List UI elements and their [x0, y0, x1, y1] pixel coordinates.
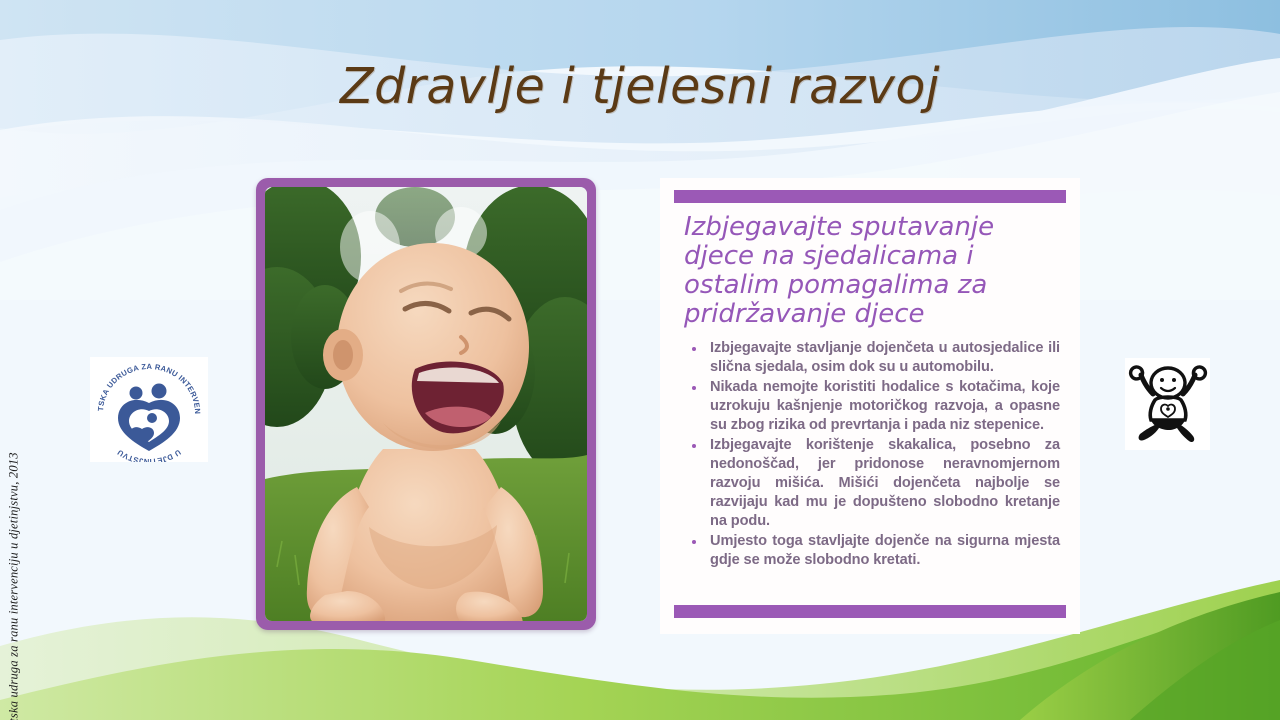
- source-credit-text: IZVOR: Temelji ranog djetinjstva, Zagreb…: [7, 452, 22, 720]
- slide: IZVOR: Temelji ranog djetinjstva, Zagreb…: [0, 0, 1280, 720]
- info-card: Izbjegavajte sputavanje djece na sjedali…: [660, 178, 1080, 634]
- list-item: Umjesto toga stavljajte dojenče na sigur…: [684, 532, 1060, 570]
- hrvatska-udruga-logo: HRVATSKA UDRUGA ZA RANU INTERVENCIJU U D…: [90, 357, 208, 462]
- child-stick-figure-icon: [1125, 358, 1210, 450]
- card-bottom-bar: [674, 605, 1066, 618]
- list-item: Izbjegavajte korištenje skakalica, poseb…: [684, 436, 1060, 531]
- list-item: Izbjegavajte stavljanje dojenčeta u auto…: [684, 339, 1060, 377]
- baby-photo-illustration: [265, 187, 587, 621]
- list-item: Nikada nemojte koristiti hodalice s kota…: [684, 378, 1060, 435]
- page-title: Zdravlje i tjelesni razvoj: [0, 58, 1280, 115]
- card-top-bar: [674, 190, 1066, 203]
- child-stick-figure-logo: [1125, 358, 1210, 450]
- card-bullet-list: Izbjegavajte stavljanje dojenčeta u auto…: [674, 339, 1066, 570]
- photo-frame: [256, 178, 596, 630]
- baby-photo: [265, 187, 587, 621]
- hrvatska-udruga-logo-icon: HRVATSKA UDRUGA ZA RANU INTERVENCIJU U D…: [90, 357, 208, 462]
- card-heading: Izbjegavajte sputavanje djece na sjedali…: [684, 213, 1066, 329]
